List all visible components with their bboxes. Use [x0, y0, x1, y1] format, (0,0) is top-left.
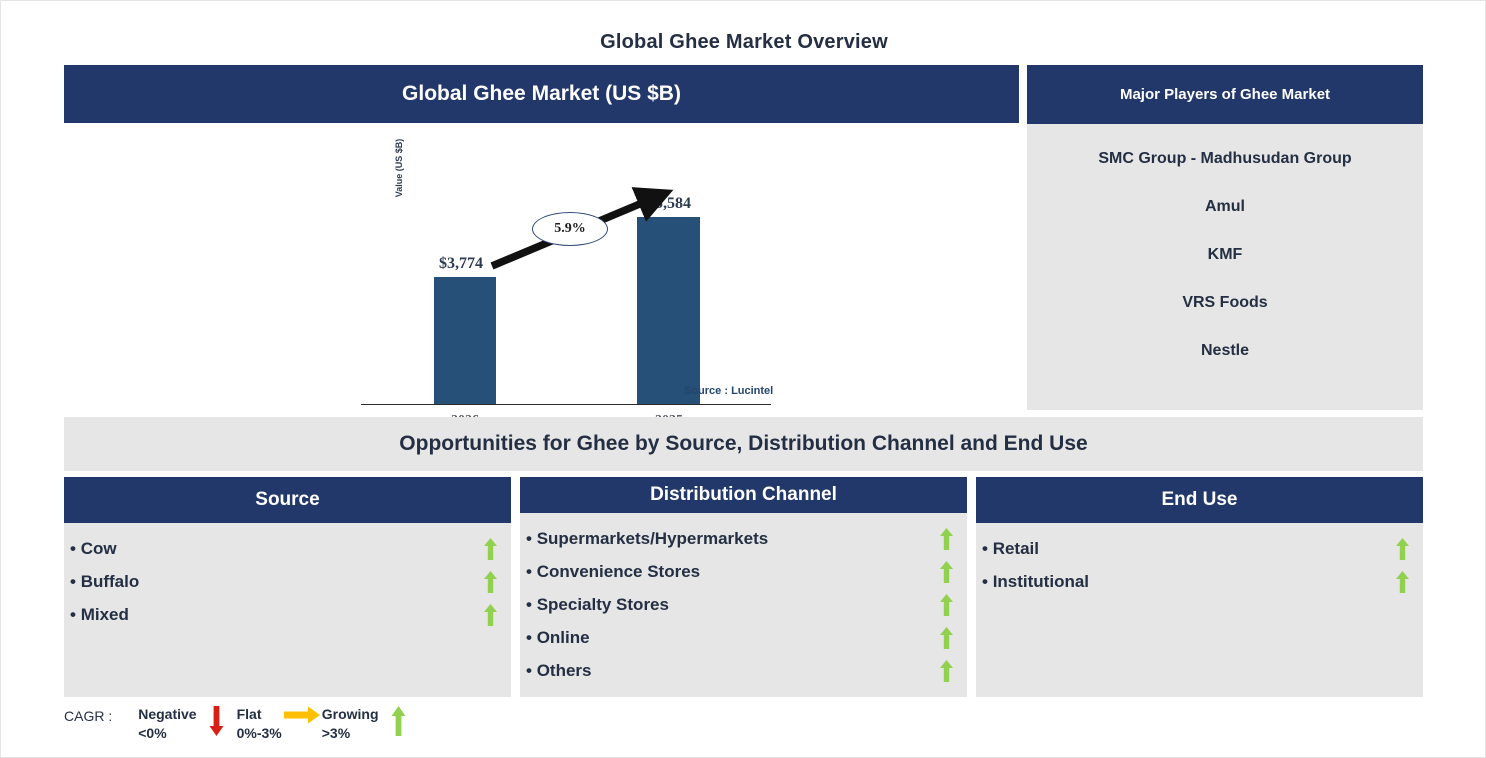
- major-players-panel: Major Players of Ghee Market SMC Group -…: [1027, 65, 1423, 410]
- arrow-up-icon: [940, 627, 953, 649]
- list-item: Nestle: [1037, 342, 1413, 360]
- opportunity-label: Supermarkets/Hypermarkets: [526, 529, 940, 549]
- legend-icon-negative: [197, 705, 237, 736]
- cagr-value-bubble: 5.9%: [532, 212, 608, 246]
- opportunity-label: Online: [526, 628, 940, 648]
- arrow-up-icon: [1396, 571, 1409, 593]
- column-body-end-use: Retail Institutional: [976, 523, 1423, 697]
- cagr-legend: CAGR : Negative <0% Flat 0%-3% Growing >…: [64, 705, 419, 743]
- arrow-up-icon: [484, 604, 497, 626]
- opportunity-label: Convenience Stores: [526, 562, 940, 582]
- opportunities-column-end-use: End Use Retail Institutional: [976, 477, 1423, 697]
- legend-range-growing: >3%: [322, 724, 379, 743]
- legend-label-growing: Growing: [322, 705, 379, 724]
- legend-icon-growing: [379, 705, 419, 736]
- list-item: Specialty Stores: [526, 588, 953, 621]
- column-header-end-use: End Use: [976, 477, 1423, 523]
- column-body-distribution-channel: Supermarkets/Hypermarkets Convenience St…: [520, 513, 967, 697]
- arrow-up-icon: [1396, 538, 1409, 560]
- list-item: Others: [526, 654, 953, 687]
- source-note: Source : Lucintel: [684, 385, 773, 397]
- infographic-page: Global Ghee Market Overview Global Ghee …: [0, 0, 1486, 758]
- opportunity-label: Buffalo: [70, 572, 484, 592]
- legend-entry-negative: Negative <0%: [138, 705, 196, 743]
- opportunities-column-distribution-channel: Distribution Channel Supermarkets/Hyperm…: [520, 477, 967, 697]
- arrow-up-icon: [940, 528, 953, 550]
- column-header-distribution-channel: Distribution Channel: [520, 477, 967, 513]
- list-item: Online: [526, 621, 953, 654]
- legend-entry-flat: Flat 0%-3%: [237, 705, 282, 743]
- arrow-up-icon: [940, 660, 953, 682]
- column-header-source: Source: [64, 477, 511, 523]
- list-item: Mixed: [70, 598, 497, 631]
- opportunities-columns: Source Cow Buffalo Mixed Distribution Ch…: [64, 477, 1423, 697]
- list-item: Supermarkets/Hypermarkets: [526, 522, 953, 555]
- column-body-source: Cow Buffalo Mixed: [64, 523, 511, 697]
- chart-panel-header: Global Ghee Market (US $B): [64, 65, 1019, 123]
- legend-entry-growing: Growing >3%: [322, 705, 379, 743]
- legend-range-flat: 0%-3%: [237, 724, 282, 743]
- page-title: Global Ghee Market Overview: [1, 31, 1486, 54]
- legend-label-negative: Negative: [138, 705, 196, 724]
- arrow-right-icon: [284, 706, 320, 728]
- opportunity-label: Specialty Stores: [526, 595, 940, 615]
- list-item: Cow: [70, 532, 497, 565]
- list-item: Buffalo: [70, 565, 497, 598]
- legend-label-flat: Flat: [237, 705, 282, 724]
- legend-icon-flat: [282, 705, 322, 728]
- chart-panel: Global Ghee Market (US $B) Value (US $B)…: [64, 65, 1019, 413]
- major-players-header: Major Players of Ghee Market: [1027, 65, 1423, 124]
- y-axis-label: Value (US $B): [394, 108, 404, 228]
- arrow-up-icon: [940, 594, 953, 616]
- opportunities-column-source: Source Cow Buffalo Mixed: [64, 477, 511, 697]
- opportunities-title: Opportunities for Ghee by Source, Distri…: [64, 417, 1423, 471]
- list-item: Amul: [1037, 198, 1413, 216]
- bar-value-2026: $3,774: [439, 255, 483, 273]
- cagr-legend-title: CAGR :: [64, 705, 112, 724]
- arrow-up-icon: [391, 706, 406, 736]
- bar-value-2035: $5,584: [647, 195, 691, 213]
- x-axis-line: [361, 404, 771, 405]
- opportunity-label: Others: [526, 661, 940, 681]
- bar-chart: Value (US $B) $3,774 $5,584 2026 2035 5.…: [64, 123, 1019, 413]
- list-item: Convenience Stores: [526, 555, 953, 588]
- list-item: SMC Group - Madhusudan Group: [1037, 150, 1413, 168]
- bar-2026: [434, 277, 496, 404]
- arrow-up-icon: [484, 571, 497, 593]
- opportunity-label: Retail: [982, 539, 1396, 559]
- legend-range-negative: <0%: [138, 724, 196, 743]
- arrow-down-icon: [209, 706, 224, 736]
- arrow-up-icon: [484, 538, 497, 560]
- opportunity-label: Institutional: [982, 572, 1396, 592]
- major-players-list: SMC Group - Madhusudan Group Amul KMF VR…: [1027, 124, 1423, 370]
- opportunity-label: Mixed: [70, 605, 484, 625]
- bar-2035: [637, 217, 700, 404]
- cagr-growth-arrow-icon: [64, 123, 1019, 413]
- list-item: Institutional: [982, 565, 1409, 598]
- list-item: Retail: [982, 532, 1409, 565]
- opportunity-label: Cow: [70, 539, 484, 559]
- arrow-up-icon: [940, 561, 953, 583]
- list-item: VRS Foods: [1037, 294, 1413, 312]
- list-item: KMF: [1037, 246, 1413, 264]
